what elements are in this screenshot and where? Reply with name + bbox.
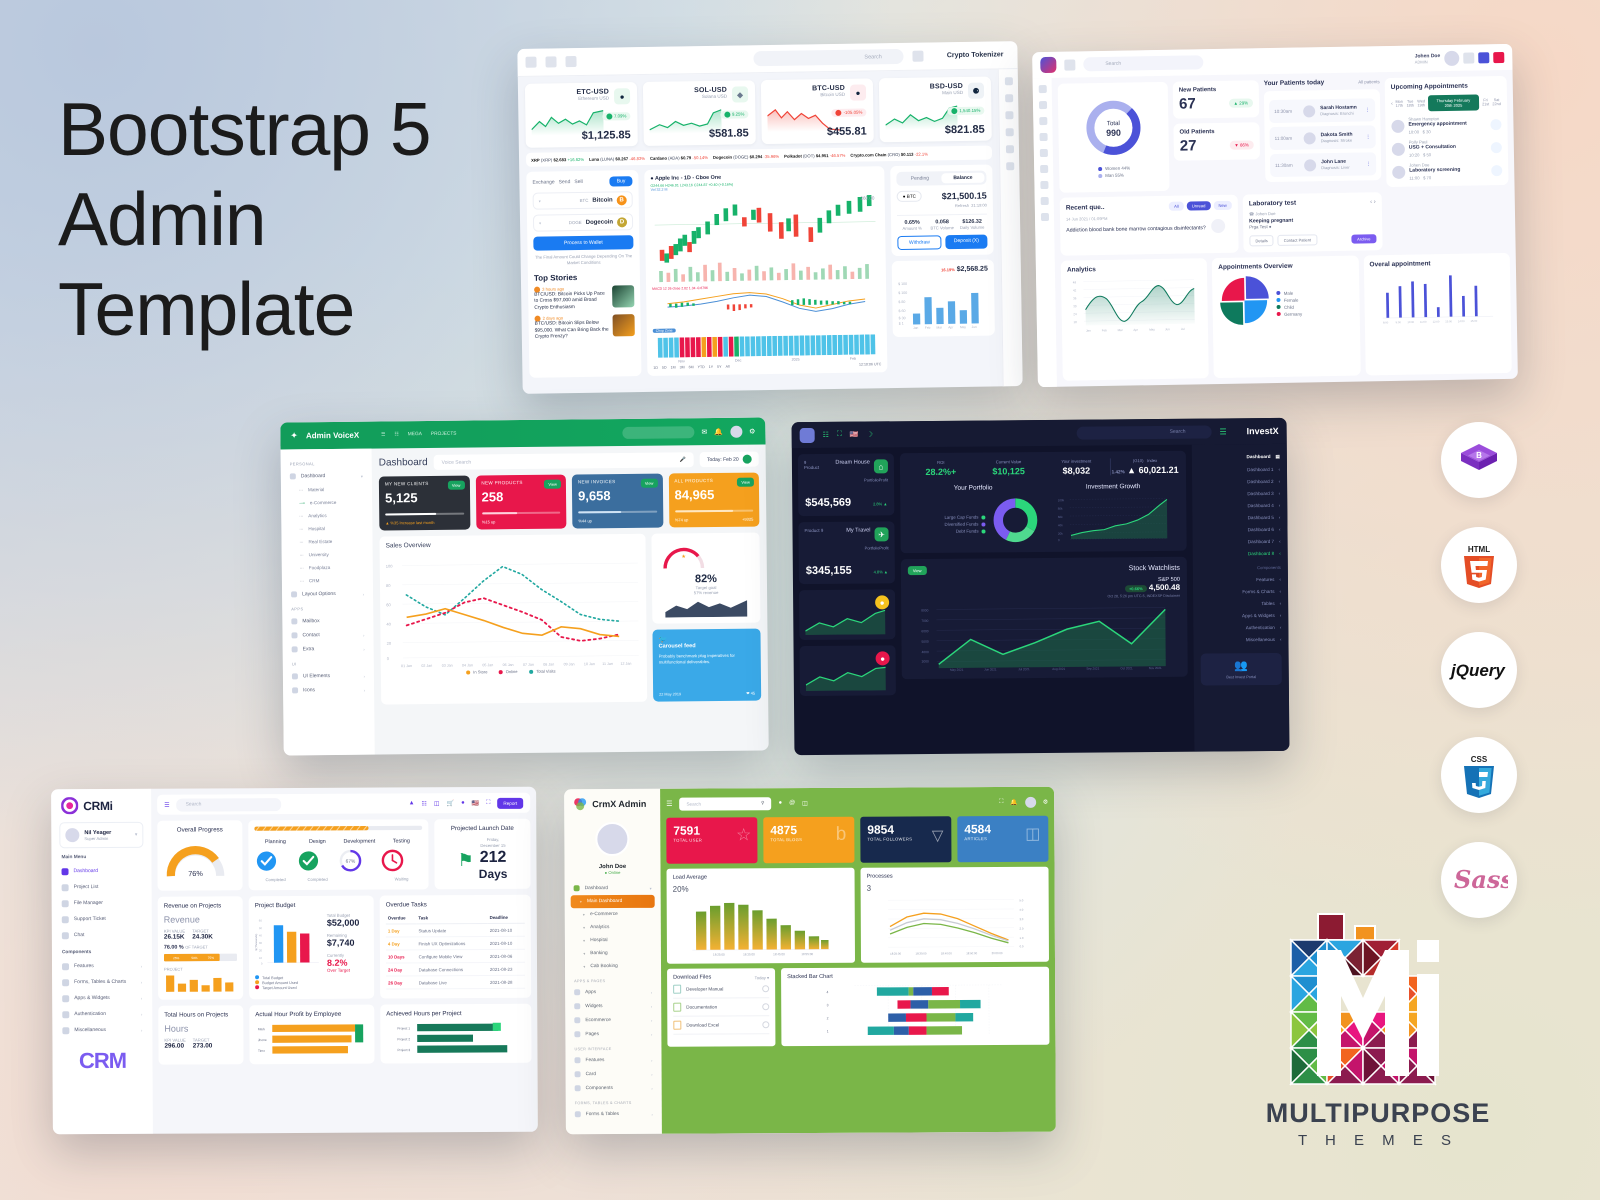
sidebar-item-mailbox[interactable]: Mailbox	[282, 614, 373, 629]
kpi-card[interactable]: MY NEW CLIENTS 5,125 View ▲ %35 Increase…	[379, 476, 470, 531]
search-input[interactable]: Search ⚲	[679, 797, 771, 810]
svg-text:100: 100	[386, 564, 394, 569]
patient-row[interactable]: 11:30am John LaneDiagnosis: Liver ⋮	[1270, 152, 1376, 177]
today-filter[interactable]: Today: Feb 20	[700, 452, 759, 468]
chat-icon[interactable]: ●	[778, 800, 782, 806]
sidebar-item-hospital[interactable]: +Hospital	[565, 934, 661, 948]
chop-zone-label: Chop Zone	[653, 328, 676, 332]
sidebar-item-university[interactable]: ⋯University	[282, 548, 373, 562]
kpi-card[interactable]: 4875 TOTAL BLOGS b	[763, 817, 854, 863]
table-row[interactable]: 26 DayDatabase Live2021-08-28	[386, 975, 525, 989]
user-profile[interactable]: Nil Yeager Super Admin ▾	[59, 822, 143, 848]
coin-select-doge[interactable]: ▾ DOGE Dogecoin D	[533, 213, 633, 232]
svg-text:CSS: CSS	[1471, 755, 1488, 764]
watch-value: +0.66% 4,500.48	[908, 583, 1180, 594]
overdue-tasks-card: Overdue Tasks OverdueTaskDeadline 1 DayS…	[380, 895, 532, 999]
revenue-card: Revenue on Projects Revenue KPI VALUE26.…	[158, 896, 244, 999]
sidebar-item-dashboard-2[interactable]: Dashboard 2‹	[1199, 475, 1280, 488]
menu-icon[interactable]: ☰	[381, 432, 385, 437]
product-card[interactable]: 9 Product ⌂ Dream House PortfolioProfit …	[798, 453, 895, 516]
fullscreen-icon[interactable]: ⛶	[837, 431, 842, 439]
sidebar-item-forms-charts[interactable]: Forms & Charts‹	[1200, 585, 1281, 598]
mini-bar-panel: 16.19% $2,568.25 $ 100$ 100$ 80 $ 60$ 30…	[892, 259, 995, 337]
sidebar-item-widgets[interactable]: Widgets›	[565, 999, 661, 1014]
story-item[interactable]: 3 hours ago BTC/USD: Bitcoin Picks Up Pa…	[534, 285, 634, 312]
table-row[interactable]: 4 DayFinish UX Optimizations2021-08-10	[386, 936, 525, 950]
download-icon[interactable]	[762, 1003, 769, 1010]
view-button[interactable]: View	[737, 478, 754, 487]
svg-text:8:00: 8:00	[1383, 320, 1389, 324]
crmx-dashboard-window[interactable]: CrmX Admin John Doe ● Online Dashboard▾ …	[564, 787, 1056, 1135]
sidebar-item-apps-widgets[interactable]: Apps & Widgets›	[52, 990, 152, 1007]
product-card[interactable]: ●	[799, 589, 895, 640]
dashboard-icon[interactable]	[1038, 85, 1046, 93]
portfolio-donut-block: Your Portfolio Large Cap Funds Diversifi…	[907, 484, 1040, 546]
microphone-icon[interactable]: 🎤	[680, 457, 686, 463]
crmx-topbar: ☰ Search ⚲ ● @ ◫ ⛶ 🔔 ⚙	[666, 793, 1048, 813]
sidebar-item-file-manager[interactable]: File Manager	[52, 895, 152, 912]
logout-icon[interactable]	[1493, 51, 1504, 62]
chop-zone-chart	[653, 334, 881, 358]
svg-text:$ 100: $ 100	[898, 282, 907, 286]
sidebar-item-components[interactable]: Components›	[566, 1081, 662, 1096]
chevron-left-icon[interactable]: ‹	[1391, 101, 1393, 107]
employee-hours-card: Actual Hour Profit by Employee MarkJhone…	[249, 1005, 374, 1065]
table-row[interactable]: 24 DayDatabase Connections2021-08-23	[386, 962, 525, 976]
view-button[interactable]: View	[908, 566, 927, 575]
download-icon[interactable]	[762, 985, 769, 992]
view-button[interactable]: View	[448, 481, 465, 490]
step-planning: Planning Completed	[254, 839, 296, 882]
all-patients-link[interactable]: All patients	[1358, 79, 1380, 84]
svg-text:Project 1: Project 1	[397, 1026, 410, 1030]
sidebar-item-features[interactable]: Features‹	[1200, 573, 1281, 586]
mail-icon[interactable]: ✉	[701, 428, 707, 436]
chat-icon[interactable]: ●	[461, 800, 465, 806]
svg-text:07 Jan: 07 Jan	[523, 663, 534, 667]
followers-icon: ▽	[932, 826, 944, 844]
list-icon[interactable]	[1005, 128, 1013, 136]
date-strip[interactable]: ‹ Mon 17th Tue 18th Wed 19th Thursday Fe…	[1391, 94, 1501, 112]
search-input[interactable]: Search	[1076, 425, 1211, 439]
fullscreen-icon[interactable]	[913, 51, 924, 62]
sidebar-item-dashboard[interactable]: Dashboard▾	[565, 881, 661, 896]
investx-sidebar[interactable]: Dashboard▤ Dashboard 1‹ Dashboard 2‹ Das…	[1192, 444, 1290, 752]
heart-icon[interactable]	[1039, 117, 1047, 125]
chip-new[interactable]: New	[1213, 201, 1232, 210]
sidebar-item-authentication[interactable]: Authentication‹	[1200, 621, 1281, 634]
crypto-change: -105.05%	[832, 108, 867, 117]
crypto-name: Main USD	[930, 90, 963, 96]
sidebar-item-card[interactable]: Card›	[566, 1067, 662, 1082]
list-item[interactable]: Developer Manual	[673, 980, 769, 999]
search-input[interactable]: Search	[754, 49, 904, 66]
range-selector[interactable]: 1D5D 1M3M 6MYTD 1Y5Y All 12:10:06 UTC	[653, 362, 881, 370]
overall-bar-chart: 8:009:0010:0011:00 12:0013:0014:0015:00	[1370, 269, 1505, 327]
crmx-sidebar[interactable]: CrmX Admin John Doe ● Online Dashboard▾ …	[564, 789, 662, 1134]
withdraw-button[interactable]: Withdraw	[897, 235, 941, 250]
sidebar-item-cab-booking[interactable]: +Cab Booking	[565, 960, 661, 974]
grid-icon[interactable]: ☷	[422, 800, 427, 807]
svg-text:75%: 75%	[208, 956, 214, 960]
svg-text:HTML: HTML	[1468, 545, 1490, 554]
tradingview-chart-panel[interactable]: ● Apple Inc - 1D - Cboe One O244.66 H246…	[644, 166, 887, 376]
crypto-name: Bitcoin USD	[812, 92, 845, 98]
crypto-dashboard-window[interactable]: Search Crypto Tokenizer ETC-USD Ethereum…	[517, 41, 1022, 394]
crypto-card[interactable]: BSD-USD Main USD ⚈ 1,540.15% $821.85	[879, 77, 992, 143]
user-icon[interactable]	[1006, 162, 1014, 170]
call-icon[interactable]	[1491, 142, 1502, 153]
html5-badge: HTML	[1441, 527, 1517, 603]
svg-text:20: 20	[387, 641, 392, 646]
medical-dashboard-window[interactable]: Search Johen Doe ADMIN	[1032, 44, 1518, 387]
people-illustration-icon: 👥	[1207, 659, 1276, 673]
svg-text:18:45:00: 18:45:00	[773, 952, 785, 956]
gear-icon[interactable]: ⚙	[749, 427, 755, 435]
list-item[interactable]: Documentation	[673, 998, 769, 1017]
help-icon[interactable]	[1004, 77, 1012, 85]
sidebar-item-ui-elements[interactable]: UI Elements›	[283, 669, 374, 684]
tab-pending[interactable]: Pending	[898, 173, 941, 184]
call-icon[interactable]	[1491, 165, 1502, 176]
appointment-row[interactable]: Shawn Hampton Emergency appointment 10:0…	[1391, 115, 1501, 135]
jquery-badge: jQuery	[1441, 632, 1517, 708]
call-icon[interactable]	[1490, 119, 1501, 130]
crmi-sidebar[interactable]: CRMi Nil Yeager Super Admin ▾ Main Menu …	[51, 789, 153, 1135]
bell-icon[interactable]	[565, 56, 576, 67]
sidebar-item-apps-widgets[interactable]: Apps & Widgets‹	[1200, 609, 1281, 622]
crm-illustration-icon: CRM	[52, 1048, 152, 1075]
sidebar-item-ecommerce-apps[interactable]: Ecommerce›	[565, 1013, 661, 1028]
sidebar-item-contact[interactable]: Contact›	[282, 628, 373, 643]
avatar[interactable]	[800, 427, 815, 442]
sidebar-item-features[interactable]: Features›	[52, 958, 152, 975]
fullscreen-icon[interactable]: ⛶	[999, 798, 1003, 805]
deposit-button[interactable]: Deposit (X)	[945, 235, 987, 250]
ticker-item: Crypto.com Chain (CRO) $0.113 -22.1%	[850, 151, 928, 157]
sidebar-item-main-dashboard[interactable]: +Main Dashboard	[571, 895, 655, 908]
product-card[interactable]: ●	[800, 645, 896, 696]
flag-icon[interactable]: 🇺🇸	[472, 800, 480, 807]
cart-icon[interactable]: 🛒	[447, 800, 455, 807]
details-button[interactable]: Details	[1249, 235, 1273, 246]
delta: 4.8% ▲	[874, 569, 888, 574]
carousel-arrows[interactable]: ‹ ›	[1370, 199, 1376, 205]
svg-text:Jhone: Jhone	[258, 1038, 267, 1042]
apps-icon[interactable]	[1478, 52, 1489, 63]
product-card[interactable]: Product 9 ✈ My Travel PortfolioProfit $3…	[798, 521, 895, 584]
gear-icon[interactable]: ⚙	[1043, 798, 1048, 805]
patient-row[interactable]: 10:30am Sarah HostamnDiagnosis: Bronchi …	[1269, 98, 1375, 123]
brand-logo-block: MULTIPURPOSE T H E M E S	[1178, 900, 1578, 1149]
mention-icon[interactable]: @	[789, 800, 795, 806]
steps-list: Planning Completed Design Completed	[254, 838, 422, 882]
svg-text:11 Jan: 11 Jan	[602, 662, 613, 666]
crypto-right-rail[interactable]	[998, 69, 1023, 386]
view-button[interactable]: View	[641, 479, 658, 488]
investx-stats: ROI28.2%+ Current Value$10,125 Your inve…	[907, 458, 1179, 477]
css3-icon: CSS	[1459, 752, 1499, 798]
chip-all[interactable]: All	[1169, 202, 1184, 211]
pie-legend: Male Female Child Germany	[1277, 288, 1303, 316]
sidebar-item-dashboard-5[interactable]: Dashboard 5‹	[1199, 511, 1280, 524]
search-icon[interactable]: ⚲	[761, 800, 764, 806]
download-icon[interactable]	[762, 1021, 769, 1028]
project-budget-card: Project Budget 605040 3020100 $ (Thousan…	[249, 896, 375, 1000]
grid-icon[interactable]	[525, 57, 536, 68]
sidebar-item-dashboard-3[interactable]: Dashboard 3‹	[1199, 487, 1280, 500]
chevron-down-icon: ▾	[539, 199, 541, 204]
sidebar-item-extra[interactable]: Extra›	[283, 642, 374, 657]
svg-text:20:00:00: 20:00:00	[992, 951, 1003, 955]
total-hours-card: Total Hours on Projects Hours KPI VALUE2…	[158, 1005, 243, 1064]
svg-text:Total: Total	[1107, 120, 1120, 127]
ticker-item: Dogecoin (DOGE) $0.294 -35.96%	[713, 153, 779, 159]
voicex-sidebar[interactable]: PERSONAL Dashboard▾ ⋯Material ⟶e-Commerc…	[281, 449, 375, 756]
menu-icon[interactable]: ☰	[1219, 427, 1226, 436]
voicex-logo-icon: ✦	[290, 430, 298, 441]
svg-text:60: 60	[259, 919, 263, 923]
sidebar-item-hospital[interactable]: ⋯Hospital	[281, 522, 372, 536]
fullscreen-icon[interactable]	[1463, 52, 1474, 63]
sidebar-item-miscellaneous[interactable]: Miscellaneous‹	[1200, 633, 1281, 646]
sidebar-item-foodplaza[interactable]: ⋯Foodplaza	[282, 561, 373, 575]
svg-text:Feb: Feb	[1102, 328, 1108, 332]
kpi-value: KPI VALUE26.15K	[164, 929, 185, 941]
kpi-card[interactable]: 4584 ARTICLES ◫	[957, 816, 1048, 862]
svg-text:11:00: 11:00	[1420, 320, 1427, 324]
lab-doctor: ☎ Johen Doe	[1249, 209, 1376, 216]
question-text: Addiction blood bank bone marrow contagi…	[1066, 225, 1206, 234]
sidebar-item-dashboard-8[interactable]: Dashboard 8‹	[1200, 547, 1281, 560]
user-profile[interactable]: John Doe ● Online	[564, 819, 660, 882]
sidebar-item-layout-options[interactable]: Layout Options›	[282, 587, 373, 602]
sidebar-item-project-list[interactable]: Project List	[52, 879, 152, 896]
search-input[interactable]: Search	[1083, 55, 1203, 71]
carousel-feed-card[interactable]: 🐦 Carousel feed Probably benchmark plug …	[652, 629, 761, 702]
pill-icon[interactable]	[1040, 197, 1048, 205]
coin-select-btc[interactable]: ▾ BTC Bitcoin B	[533, 191, 633, 210]
download-files-card: Download Files Today ▾ Developer Manual …	[667, 968, 775, 1047]
sidebar-item-forms-tables-charts[interactable]: Forms, Tables & Charts›	[52, 974, 152, 991]
sidebar-item-analytics[interactable]: ⋯Analytics	[281, 509, 372, 523]
sidebar-item-crm[interactable]: ⋯CRM	[282, 574, 373, 588]
patient-row[interactable]: 11:00am Dakota SmithDiagnosis: Stroke ⋮	[1269, 125, 1375, 150]
portfolio-donut	[991, 496, 1039, 544]
appointment-row[interactable]: Johen Doe Laboratory screening 11:00 $ 7…	[1392, 161, 1502, 181]
nav-mega[interactable]: MEGA	[408, 432, 422, 437]
chart-icon[interactable]	[1005, 145, 1013, 153]
kpi-card[interactable]: ALL PRODUCTS 84,965 View %74 up +9325	[668, 473, 759, 528]
menu-icon[interactable]: ☰	[666, 800, 672, 808]
contact-patient-button[interactable]: Contact Patient	[1278, 234, 1318, 246]
svg-text:2.0: 2.0	[1020, 927, 1024, 931]
more-icon[interactable]: ⋮	[1366, 161, 1371, 167]
more-icon[interactable]: ⋮	[1365, 107, 1370, 113]
today-filter[interactable]: Today ▾	[755, 975, 769, 980]
sidebar-item-pages[interactable]: Pages›	[565, 1027, 661, 1042]
refresh-row[interactable]: Refresh 21:19:00	[897, 203, 987, 209]
chevron-down-icon[interactable]: ▾	[135, 832, 138, 838]
reports-icon[interactable]	[1040, 165, 1048, 173]
sidebar-item-dashboard[interactable]: Dashboard	[51, 863, 151, 880]
tab-sell[interactable]: Sell	[574, 179, 582, 185]
sidebar-item-icons[interactable]: Icons›	[283, 683, 374, 698]
settings-icon[interactable]	[1005, 94, 1013, 102]
blog-icon: b	[836, 824, 847, 846]
sidebar-item-apps[interactable]: Apps›	[565, 985, 661, 1000]
sidebar-item-features[interactable]: Features›	[565, 1053, 661, 1068]
kpi-card[interactable]: NEW PRODUCTS 258 View %15 up	[475, 475, 566, 530]
crypto-name: Solana USD	[694, 94, 727, 100]
calendar-icon[interactable]	[1039, 133, 1047, 141]
balance-stats: 0.65%Amount % 0.058BTC Volume $126.32Dai…	[897, 214, 987, 231]
tab-exchange[interactable]: Exchange	[532, 179, 554, 185]
svg-text:10:00: 10:00	[1407, 320, 1414, 324]
svg-text:06 Jan: 06 Jan	[503, 663, 514, 667]
clipboard-icon[interactable]: ◫	[802, 800, 808, 807]
table-row[interactable]: 10 DaysConfigure Mobile View2021-08-06	[386, 949, 525, 963]
investx-dashboard-window[interactable]: ☷ ⛶ 🇺🇸 ☽ Search ☰ InvestX 9 Product ⌂ Dr…	[792, 418, 1290, 755]
chip-unread[interactable]: Unread	[1187, 201, 1211, 210]
sidebar-item-dashboard-1[interactable]: Dashboard 1‹	[1199, 463, 1280, 476]
view-button[interactable]: View	[544, 480, 561, 489]
appointment-row[interactable]: Polly Paul USG + Consultation 10:20 $ 50	[1392, 138, 1502, 158]
avatar[interactable]	[1444, 50, 1459, 65]
lab-icon[interactable]	[1039, 149, 1047, 157]
gauge-value: 82%	[658, 573, 754, 586]
svg-text:13:00: 13:00	[1445, 319, 1452, 323]
settings-icon[interactable]	[1040, 181, 1048, 189]
sidebar-item-authentication[interactable]: Authentication›	[52, 1006, 152, 1023]
crypto-ticker-strip: XRP (XRP) $2.683 +16.62% Luna (LUNA) $0.…	[526, 146, 992, 167]
patients-icon[interactable]	[1038, 101, 1046, 109]
svg-text:Jul: Jul	[1181, 327, 1185, 331]
kpi-card[interactable]: 7591 TOTAL USER ☆	[666, 817, 757, 863]
crypto-card[interactable]: SOL-USD Solana USD ◆ 9.25% $581.85	[643, 80, 756, 146]
appointments-overview-card: Appointments Overview Male Female Child	[1212, 256, 1360, 379]
exchange-note: The Final Amount Could Change Depending …	[534, 253, 634, 267]
selected-date[interactable]: Thursday February 20th 2025	[1428, 94, 1480, 111]
svg-text:18: 18	[1073, 320, 1077, 324]
avatar[interactable]	[730, 425, 742, 437]
archive-button[interactable]: Archive	[1351, 234, 1376, 243]
sidebar-item-chat[interactable]: Chat	[52, 927, 152, 944]
voicex-dashboard-window[interactable]: ✦ Admin VoiceX ☰ ☷ MEGA PROJECTS ✉ 🔔 ⚙ P…	[280, 417, 768, 755]
sidebar-item-material[interactable]: ⋯Material	[281, 483, 372, 497]
sidebar-item-dashboard-4[interactable]: Dashboard 4‹	[1199, 499, 1280, 512]
avatar	[595, 822, 629, 856]
crypto-card[interactable]: BTC-USD Bitcoin USD ● -105.05% $455.81	[761, 78, 874, 144]
check-icon	[296, 849, 320, 873]
svg-text:3: 3	[827, 1003, 829, 1007]
multipurpose-logo-icon	[1283, 900, 1473, 1090]
list-item[interactable]: Download Excel	[673, 1016, 769, 1035]
sidebar-item-dashboard[interactable]: Dashboard▾	[281, 469, 372, 484]
hero-line-1: Bootstrap 5	[58, 84, 518, 174]
flag-icon[interactable]: 🇺🇸	[850, 431, 859, 439]
balance-panel[interactable]: Pending Balance ● BTC $21,500.15 Refresh…	[890, 165, 995, 373]
sidebar-item-analytics[interactable]: +Analytics	[565, 921, 661, 935]
crypto-price: $821.85	[945, 124, 985, 137]
sidebar-item-tables[interactable]: Tables‹	[1200, 597, 1281, 610]
kpi-card[interactable]: 9854 TOTAL FOLLOWERS ▽	[860, 816, 951, 862]
nav-projects[interactable]: PROJECTS	[431, 432, 457, 437]
more-icon[interactable]: ⋮	[1366, 134, 1371, 140]
table-row[interactable]: 1 DayStatus Update2021-08-10	[386, 923, 525, 937]
process-to-wallet-button[interactable]: Process to Wallet	[533, 235, 633, 251]
comment-icon[interactable]	[1211, 219, 1225, 233]
flag-icon: ⚑	[457, 850, 473, 871]
sidebar-item-real-estate[interactable]: ⋯Real Estate	[281, 535, 372, 549]
filters-icon[interactable]: ☷	[823, 431, 829, 439]
crmi-dashboard-window[interactable]: CRMi Nil Yeager Super Admin ▾ Main Menu …	[51, 787, 538, 1135]
file-icon[interactable]: ◫	[434, 800, 440, 807]
bell-icon[interactable]: 🔔	[1010, 798, 1018, 805]
voice-search-input[interactable]: Voice Search 🎤	[434, 452, 695, 470]
menu-icon[interactable]	[1064, 59, 1075, 70]
layout-icon[interactable]	[1005, 111, 1013, 119]
svg-text:May 2021: May 2021	[950, 668, 964, 672]
sidebar-item-ecommerce[interactable]: ⟶e-Commerce	[281, 496, 372, 510]
avatar[interactable]	[1025, 796, 1036, 807]
search-input[interactable]: Search	[177, 798, 282, 812]
sidebar-promo: 👥 Best Invest Portal	[1201, 653, 1282, 686]
menu-icon[interactable]: ☰	[164, 801, 169, 808]
exchange-panel[interactable]: Exchange Send Sell Buy ▾ BTC Bitcoin B ▾…	[526, 170, 641, 378]
report-button[interactable]: Report	[497, 797, 523, 808]
sidebar-item-dashboard-7[interactable]: Dashboard 7‹	[1200, 535, 1281, 548]
fullscreen-icon[interactable]: ⛶	[486, 799, 490, 806]
hero-line-3: Template	[58, 264, 518, 354]
likes-count: ❤ 45	[746, 691, 755, 696]
clock-icon[interactable]	[1040, 213, 1048, 221]
sidebar-item-ecommerce[interactable]: +e-Commerce	[565, 908, 661, 922]
coin-pill[interactable]: ● BTC	[897, 191, 922, 202]
user-name: Johen Doe	[1415, 53, 1441, 59]
sidebar-item-forms-tables[interactable]: Forms & Tables›	[566, 1107, 662, 1122]
budget-remaining: Remaining$7,740	[327, 933, 368, 948]
buy-button[interactable]: Buy	[610, 176, 633, 186]
balance-tabs[interactable]: Pending Balance	[896, 171, 986, 186]
sidebar-item-miscellaneous[interactable]: Miscellaneous›	[52, 1022, 152, 1039]
download-icon[interactable]	[545, 56, 556, 67]
bootstrap-icon: B	[1457, 440, 1501, 480]
tab-balance[interactable]: Balance	[941, 173, 984, 184]
svg-text:0: 0	[387, 656, 390, 661]
sidebar-item-support-ticket[interactable]: Support Ticket	[52, 911, 152, 928]
sidebar-title: Dashboard▤	[1199, 450, 1280, 464]
story-item[interactable]: 2 days ago BTC/USD: Bitcoin Slips Below …	[535, 314, 635, 341]
svg-text:5000: 5000	[921, 640, 928, 644]
sidebar-item-dashboard-6[interactable]: Dashboard 6‹	[1199, 523, 1280, 536]
svg-text:80: 80	[386, 583, 391, 588]
svg-text:5.0: 5.0	[1019, 898, 1023, 902]
css3-badge: CSS	[1441, 737, 1517, 813]
bell-icon[interactable]: 🔔	[714, 427, 723, 435]
sidebar-item-banking[interactable]: +Banking	[565, 947, 661, 961]
crypto-card[interactable]: ETC-USD Ethereum USD ● 7.09% $1,125.85	[525, 82, 638, 148]
bell-icon[interactable]: ▲	[409, 800, 415, 806]
donut-chart: Total 990	[1082, 96, 1145, 159]
tab-send[interactable]: Send	[559, 179, 571, 185]
alert-icon: ●	[876, 651, 890, 665]
grid-icon[interactable]: ☷	[394, 432, 398, 437]
kpi-card[interactable]: NEW INVOICES 9,658 View %44 up	[572, 474, 663, 529]
svg-text:3.0: 3.0	[1019, 917, 1023, 921]
dark-mode-icon[interactable]: ☽	[867, 430, 873, 438]
header-search[interactable]	[622, 426, 694, 439]
